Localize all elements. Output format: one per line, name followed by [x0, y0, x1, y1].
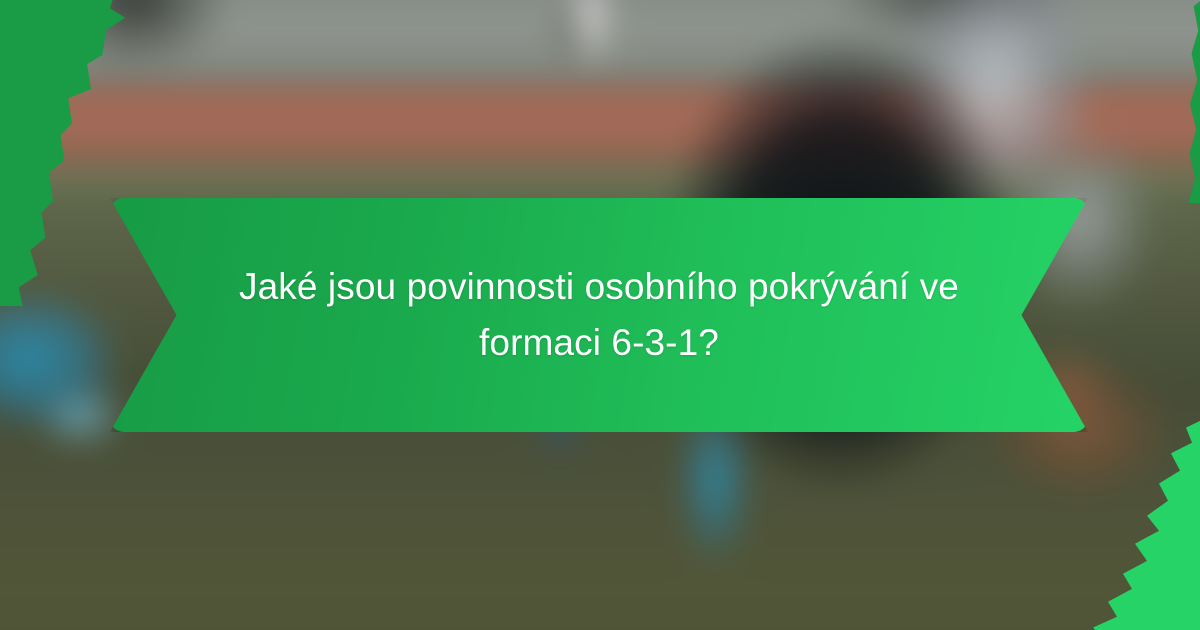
headline-text: Jaké jsou povinnosti osobního pokrývání …: [219, 259, 979, 371]
social-card: Jaké jsou povinnosti osobního pokrývání …: [0, 0, 1200, 630]
banner-content: Jaké jsou povinnosti osobního pokrývání …: [219, 259, 979, 371]
ribbon-banner: Jaké jsou povinnosti osobního pokrývání …: [110, 198, 1088, 432]
